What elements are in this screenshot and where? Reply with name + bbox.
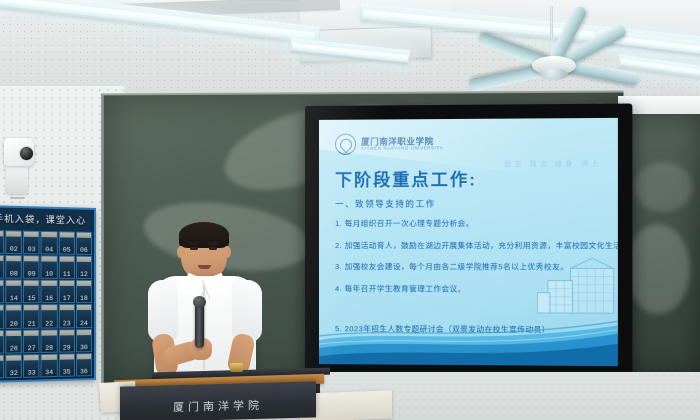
pocket-number: 02 xyxy=(6,246,21,253)
phone-pocket-11[interactable]: 11 xyxy=(59,256,75,280)
pocket-number: 10 xyxy=(42,271,56,278)
pocket-number: 15 xyxy=(24,296,39,303)
pocket-chart-title: 手机入袋，课堂入心 xyxy=(0,210,94,230)
phone-pocket-20[interactable]: 20 xyxy=(5,305,22,329)
camera-base xyxy=(6,164,28,194)
pocket-number: 07 xyxy=(0,271,3,278)
phone-pocket-28[interactable]: 28 xyxy=(41,329,58,353)
microphone-head-icon xyxy=(193,296,206,308)
sleeve-left xyxy=(148,280,178,342)
display-bezel-sheen xyxy=(305,104,632,381)
mouth xyxy=(198,265,211,269)
fan-hub-light xyxy=(540,68,568,80)
fan-downrod xyxy=(550,6,553,38)
pocket-number: 35 xyxy=(60,368,74,375)
pocket-number: 34 xyxy=(42,369,56,376)
pocket-number: 20 xyxy=(6,320,21,327)
pocket-number: 06 xyxy=(77,247,91,254)
security-camera-icon xyxy=(4,138,38,196)
pocket-number: 19 xyxy=(0,320,3,327)
ceiling-fan-icon xyxy=(470,24,640,100)
phone-pocket-14[interactable]: 14 xyxy=(5,280,22,304)
hair xyxy=(179,222,229,248)
pocket-number: 08 xyxy=(6,271,21,278)
phone-pocket-16[interactable]: 16 xyxy=(41,280,58,304)
phone-pocket-19[interactable]: 19 xyxy=(0,305,4,329)
pocket-number: 23 xyxy=(60,320,74,327)
phone-pocket-01[interactable]: 01 xyxy=(0,230,4,254)
pocket-number: 33 xyxy=(24,369,39,376)
phone-pocket-06[interactable]: 06 xyxy=(76,232,92,255)
pocket-number: 24 xyxy=(77,320,91,327)
phone-pocket-24[interactable]: 24 xyxy=(76,304,92,327)
camera-lens-icon xyxy=(19,146,34,161)
pocket-number: 09 xyxy=(24,271,39,278)
phone-pocket-26[interactable]: 26 xyxy=(5,329,22,353)
pocket-number: 21 xyxy=(24,320,39,327)
pocket-number: 03 xyxy=(24,246,39,253)
pocket-number: 36 xyxy=(77,368,91,375)
phone-pocket-13[interactable]: 13 xyxy=(0,280,4,304)
pocket-number: 16 xyxy=(42,296,56,303)
pocket-number: 28 xyxy=(42,344,56,351)
phone-pocket-21[interactable]: 21 xyxy=(23,305,40,329)
pocket-number: 12 xyxy=(77,271,91,278)
phone-pocket-04[interactable]: 04 xyxy=(41,231,58,255)
pocket-number: 29 xyxy=(60,344,74,351)
pocket-number: 27 xyxy=(24,345,39,352)
eyebrow-left xyxy=(189,242,199,245)
lectern-label: 厦门南洋学院 xyxy=(120,395,316,416)
phone-pocket-35[interactable]: 35 xyxy=(59,353,75,377)
pocket-number: 05 xyxy=(60,247,74,254)
wristwatch xyxy=(230,363,243,372)
phone-pocket-32[interactable]: 32 xyxy=(5,354,22,378)
phone-pocket-07[interactable]: 07 xyxy=(0,255,4,279)
eye-left xyxy=(190,247,198,250)
pocket-number: 31 xyxy=(0,370,3,378)
phone-pocket-22[interactable]: 22 xyxy=(41,305,58,329)
eyebrow-right xyxy=(208,242,218,245)
pocket-number: 04 xyxy=(42,246,56,253)
pocket-number: 18 xyxy=(77,295,91,302)
speaker-person xyxy=(146,222,264,392)
phone-pocket-15[interactable]: 15 xyxy=(23,280,40,304)
pocket-number: 17 xyxy=(60,295,74,302)
camera-body xyxy=(4,138,34,166)
eye-right xyxy=(209,247,217,250)
phone-pocket-03[interactable]: 03 xyxy=(23,231,40,255)
phone-pocket-23[interactable]: 23 xyxy=(59,305,75,328)
phone-pocket-18[interactable]: 18 xyxy=(76,280,92,303)
pocket-number: 14 xyxy=(6,296,21,303)
camera-vent-slot xyxy=(10,197,25,199)
phone-pocket-31[interactable]: 31 xyxy=(0,354,4,378)
phone-pocket-09[interactable]: 09 xyxy=(23,255,40,279)
phone-pocket-08[interactable]: 08 xyxy=(5,255,22,279)
phone-pocket-34[interactable]: 34 xyxy=(41,354,58,378)
pocket-grid: 0102030405060708091011121314151617181920… xyxy=(0,230,92,379)
phone-pocket-30[interactable]: 30 xyxy=(76,329,92,352)
phone-pocket-29[interactable]: 29 xyxy=(59,329,75,353)
phone-pocket-25[interactable]: 25 xyxy=(0,330,4,354)
pocket-number: 30 xyxy=(77,344,91,351)
classroom-presentation-photo: 手机入袋，课堂入心 010203040506070809101112131415… xyxy=(0,0,700,420)
lectern: 厦门南洋学院 xyxy=(120,381,316,420)
pocket-number: 25 xyxy=(0,345,3,352)
pocket-number: 01 xyxy=(0,246,3,253)
pocket-number: 11 xyxy=(60,271,74,278)
ear-right xyxy=(223,246,231,258)
phone-pocket-27[interactable]: 27 xyxy=(23,329,40,353)
phone-pocket-chart[interactable]: 手机入袋，课堂入心 010203040506070809101112131415… xyxy=(0,205,96,383)
phone-pocket-17[interactable]: 17 xyxy=(59,280,75,303)
phone-pocket-36[interactable]: 36 xyxy=(76,353,92,377)
ear-left xyxy=(177,246,185,258)
pocket-number: 32 xyxy=(6,370,21,378)
sleeve-right xyxy=(232,280,262,342)
chalk-smudge xyxy=(634,162,692,212)
wall-mounted-display[interactable]: 厦门南洋职业学院 XIAMEN NANYANG UNIVERSITY 励志 笃志… xyxy=(305,104,632,381)
phone-pocket-12[interactable]: 12 xyxy=(76,256,92,279)
pocket-number: 22 xyxy=(42,320,56,327)
chalk-smudge xyxy=(626,224,690,314)
phone-pocket-33[interactable]: 33 xyxy=(23,354,40,378)
pocket-number: 26 xyxy=(6,345,21,352)
phone-pocket-05[interactable]: 05 xyxy=(59,231,75,255)
phone-pocket-02[interactable]: 02 xyxy=(5,230,22,254)
pocket-number: 13 xyxy=(0,296,3,303)
phone-pocket-10[interactable]: 10 xyxy=(41,256,58,280)
